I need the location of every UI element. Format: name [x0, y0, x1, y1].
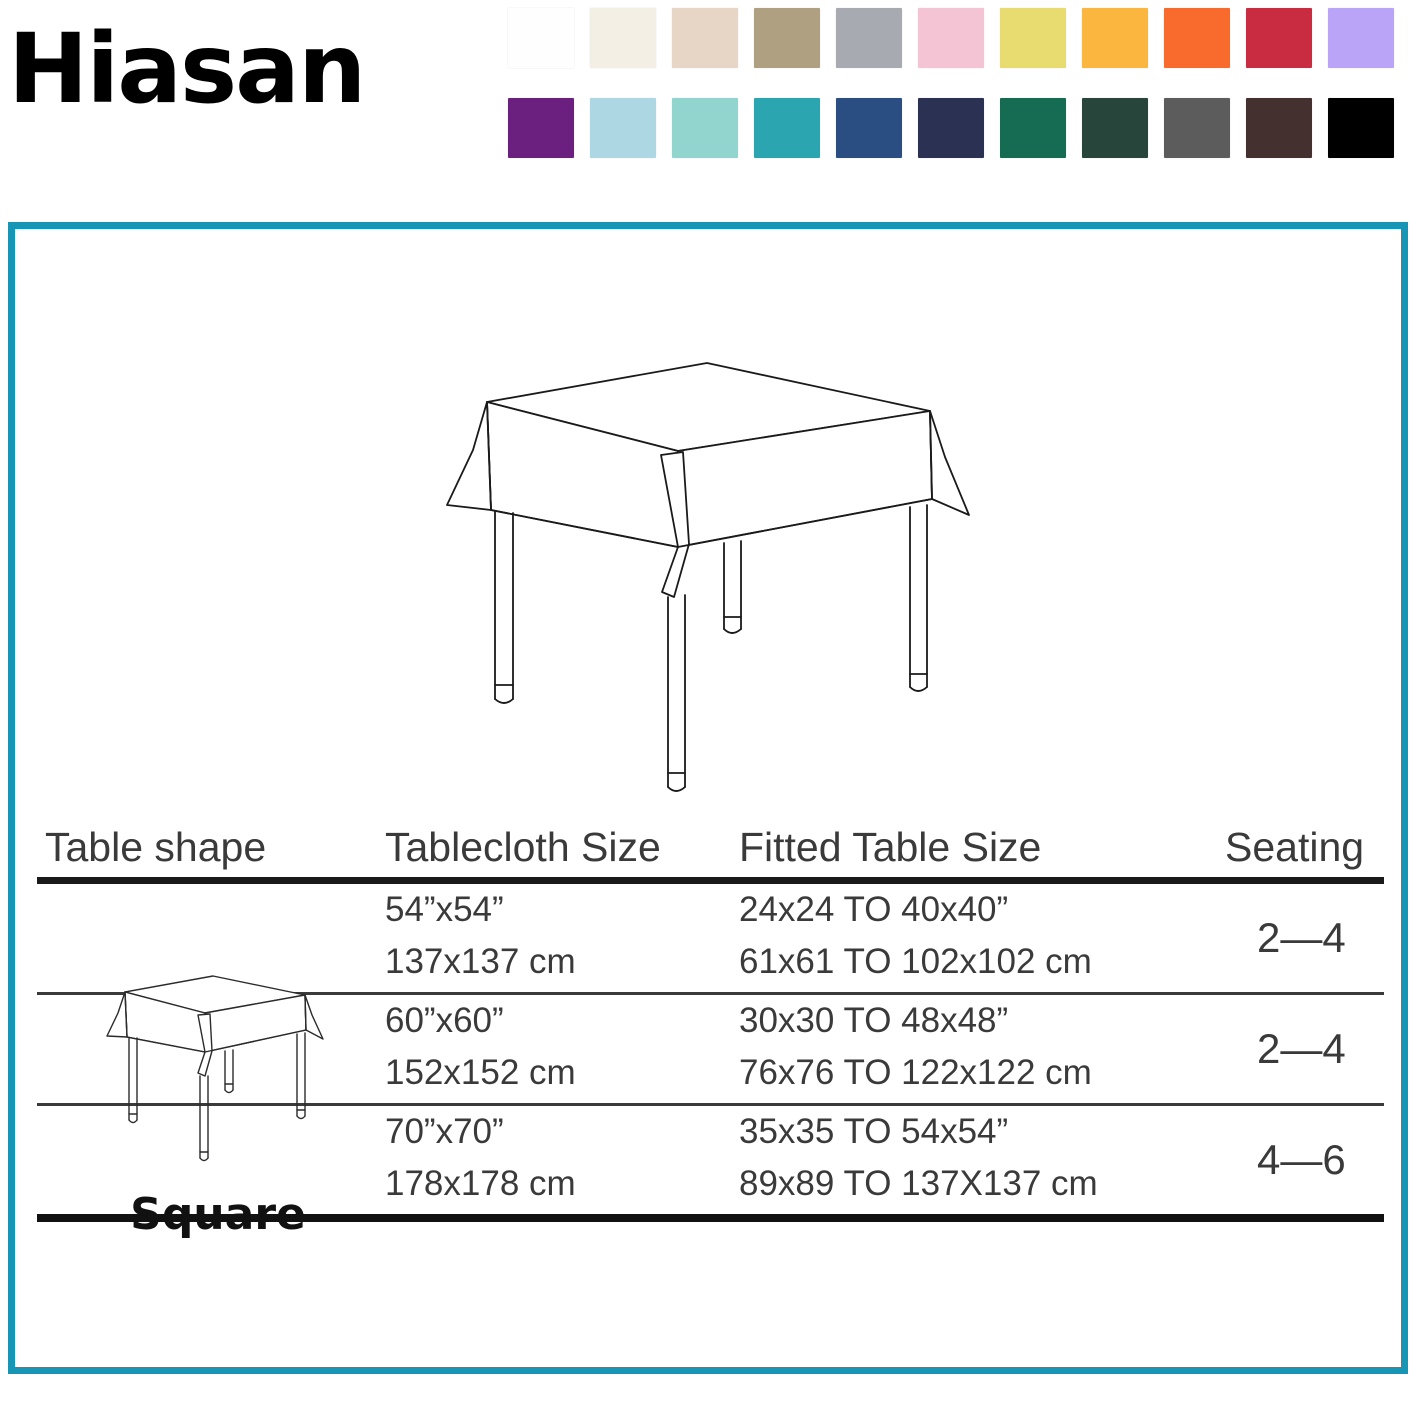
color-swatch-orange[interactable]: [1164, 8, 1230, 68]
column-header-seating: Seating: [1225, 824, 1364, 871]
color-swatch-gold[interactable]: [1082, 8, 1148, 68]
color-swatch-dark-green[interactable]: [1082, 98, 1148, 158]
table-row: 70”x70” 178x178 cm 35x35 TO 54x54” 89x89…: [29, 1106, 1387, 1214]
tablecloth-size-inches: 60”x60”: [385, 1001, 504, 1041]
product-size-chart: Hiasan: [0, 0, 1416, 1402]
fitted-size-inches: 30x30 TO 48x48”: [739, 1001, 1008, 1041]
size-table: Table shape Tablecloth Size Fitted Table…: [29, 809, 1387, 1222]
color-swatch-dark-gray[interactable]: [1164, 98, 1230, 158]
chart-panel: Table shape Tablecloth Size Fitted Table…: [8, 222, 1408, 1374]
seating-value: 4—6: [1257, 1136, 1346, 1184]
color-swatch-ivory[interactable]: [590, 8, 656, 68]
tablecloth-size-cm: 152x152 cm: [385, 1053, 576, 1093]
fitted-size-cm: 61x61 TO 102x102 cm: [739, 942, 1092, 982]
color-swatch-grid: [508, 8, 1408, 188]
tablecloth-size-inches: 70”x70”: [385, 1112, 504, 1152]
brand-logo: Hiasan: [8, 14, 468, 124]
color-swatch-purple[interactable]: [508, 98, 574, 158]
color-swatch-red[interactable]: [1246, 8, 1312, 68]
column-header-tablecloth-size: Tablecloth Size: [385, 824, 661, 871]
fitted-size-inches: 24x24 TO 40x40”: [739, 890, 1008, 930]
color-swatch-gray[interactable]: [836, 8, 902, 68]
color-swatch-emerald[interactable]: [1000, 98, 1066, 158]
color-swatch-pink[interactable]: [918, 8, 984, 68]
table-row: 60”x60” 152x152 cm 30x30 TO 48x48” 76x76…: [29, 995, 1387, 1103]
table-body: Square 54”x54” 137x137 cm 24x24 TO 40x40…: [29, 884, 1387, 1222]
color-swatch-dark-navy[interactable]: [918, 98, 984, 158]
table-row: 54”x54” 137x137 cm 24x24 TO 40x40” 61x61…: [29, 884, 1387, 992]
color-swatch-teal[interactable]: [754, 98, 820, 158]
column-header-fitted-table-size: Fitted Table Size: [739, 824, 1041, 871]
seating-value: 2—4: [1257, 1025, 1346, 1073]
tablecloth-size-inches: 54”x54”: [385, 890, 504, 930]
seating-value: 2—4: [1257, 914, 1346, 962]
header-divider: [37, 877, 1384, 884]
fitted-size-cm: 89x89 TO 137X137 cm: [739, 1164, 1098, 1204]
tablecloth-size-cm: 178x178 cm: [385, 1164, 576, 1204]
fitted-size-inches: 35x35 TO 54x54”: [739, 1112, 1008, 1152]
color-swatch-aqua[interactable]: [672, 98, 738, 158]
color-swatch-dark-brown[interactable]: [1246, 98, 1312, 158]
color-swatch-light-blue[interactable]: [590, 98, 656, 158]
color-swatch-beige[interactable]: [672, 8, 738, 68]
color-swatch-lavender[interactable]: [1328, 8, 1394, 68]
color-swatch-yellow[interactable]: [1000, 8, 1066, 68]
color-swatch-row-bottom: [508, 98, 1408, 158]
header: Hiasan: [0, 0, 1416, 200]
color-swatch-navy-blue[interactable]: [836, 98, 902, 158]
color-swatch-taupe[interactable]: [754, 8, 820, 68]
color-swatch-black[interactable]: [1328, 98, 1394, 158]
square-table-illustration: [435, 347, 980, 802]
tablecloth-size-cm: 137x137 cm: [385, 942, 576, 982]
table-header-row: Table shape Tablecloth Size Fitted Table…: [29, 809, 1387, 871]
column-header-table-shape: Table shape: [45, 824, 266, 871]
color-swatch-white[interactable]: [508, 8, 574, 68]
fitted-size-cm: 76x76 TO 122x122 cm: [739, 1053, 1092, 1093]
color-swatch-row-top: [508, 8, 1408, 68]
